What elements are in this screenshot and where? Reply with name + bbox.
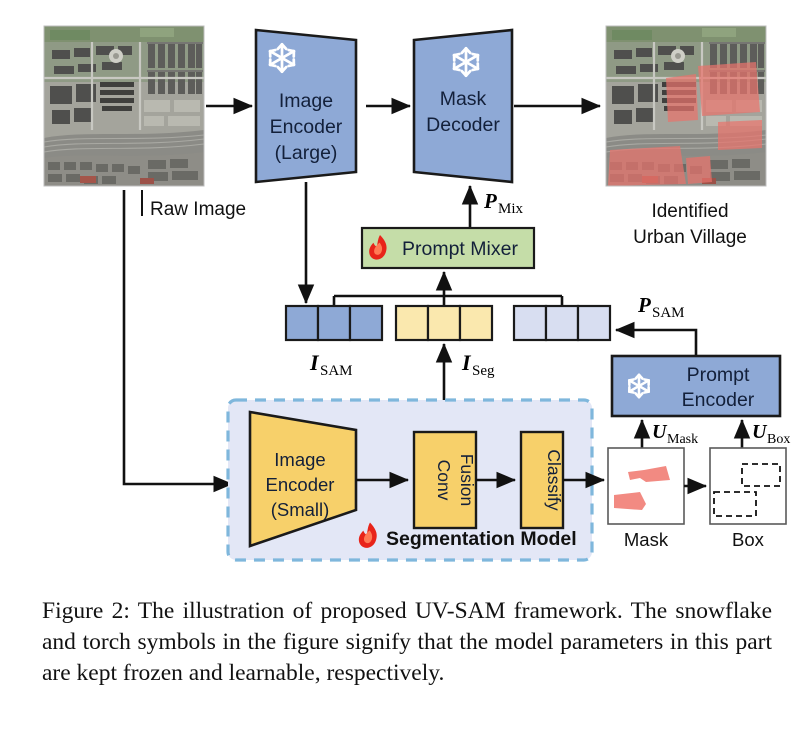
isam-base: I <box>309 350 320 375</box>
ubox-base: U <box>752 421 768 443</box>
mask-label: Mask <box>624 529 669 550</box>
mask-decoder-line1: Mask <box>440 88 487 110</box>
fusion-conv-line1: Fusion <box>457 454 477 507</box>
umask-sub: Mask <box>667 432 698 447</box>
box-label: Box <box>732 529 765 550</box>
image-encoder-large-node[interactable]: Image Encoder (Large) <box>256 30 356 182</box>
figure-caption: Figure 2: The illustration of proposed U… <box>42 596 772 689</box>
fusion-conv-node[interactable]: Conv Fusion <box>414 432 477 528</box>
umask-label: U Mask <box>652 421 698 447</box>
image-encoder-small-line2: Encoder <box>266 474 335 495</box>
box-thumbnail <box>710 448 786 524</box>
prompt-encoder-node[interactable]: Prompt Encoder <box>612 356 780 416</box>
prompt-mixer-label: Prompt Mixer <box>402 238 518 260</box>
tokens-to-mixer-arrow <box>334 272 562 306</box>
raw-image-label: Raw Image <box>150 199 246 220</box>
figure-diagram: Image Encoder (Large) Mask Decoder P M <box>0 0 810 580</box>
ubox-sub: Box <box>767 432 790 447</box>
image-encoder-large-line3: (Large) <box>275 142 338 164</box>
pmix-base: P <box>483 189 497 213</box>
image-encoder-large-line1: Image <box>279 90 333 112</box>
pmix-sub: Mix <box>498 201 524 217</box>
psam-arrow <box>616 330 696 356</box>
classify-label: Classify <box>544 449 564 511</box>
image-encoder-small-line3: (Small) <box>271 499 330 520</box>
raw-image <box>44 26 204 186</box>
prompt-encoder-line2: Encoder <box>682 389 755 411</box>
classify-node[interactable]: Classify <box>521 432 564 528</box>
identified-label-line1: Identified <box>651 201 728 222</box>
psam-sub: SAM <box>652 305 685 321</box>
token-row-psam <box>514 306 610 340</box>
fusion-conv-line2: Conv <box>434 460 454 501</box>
pmix-label: P Mix <box>483 189 524 217</box>
raw-to-segmentation-arrow <box>124 190 232 484</box>
mask-decoder-line2: Decoder <box>426 114 500 136</box>
isam-sub: SAM <box>320 363 353 379</box>
psam-label: P SAM <box>637 293 685 321</box>
identified-urban-village-label-group: Identified Urban Village <box>633 201 747 248</box>
ubox-label: U Box <box>752 421 790 447</box>
image-encoder-large-line2: Encoder <box>270 116 343 138</box>
prompt-encoder-line1: Prompt <box>687 364 750 386</box>
mask-thumbnail <box>608 448 684 524</box>
mask-decoder-node[interactable]: Mask Decoder <box>414 30 512 182</box>
iseg-base: I <box>461 350 472 375</box>
identified-urban-village-image <box>606 26 766 186</box>
iseg-label: I Seg <box>461 350 495 379</box>
raw-image-label-group: Raw Image <box>142 190 246 220</box>
iseg-sub: Seg <box>472 363 495 379</box>
image-encoder-small-line1: Image <box>274 449 325 470</box>
token-row-isam <box>286 306 382 340</box>
token-row-iseg <box>396 306 492 340</box>
identified-label-line2: Urban Village <box>633 227 747 248</box>
umask-base: U <box>652 421 668 443</box>
prompt-mixer-node[interactable]: Prompt Mixer <box>362 228 534 268</box>
isam-label: I SAM <box>309 350 353 379</box>
psam-base: P <box>637 293 651 317</box>
segmentation-model-label: Segmentation Model <box>386 528 577 550</box>
